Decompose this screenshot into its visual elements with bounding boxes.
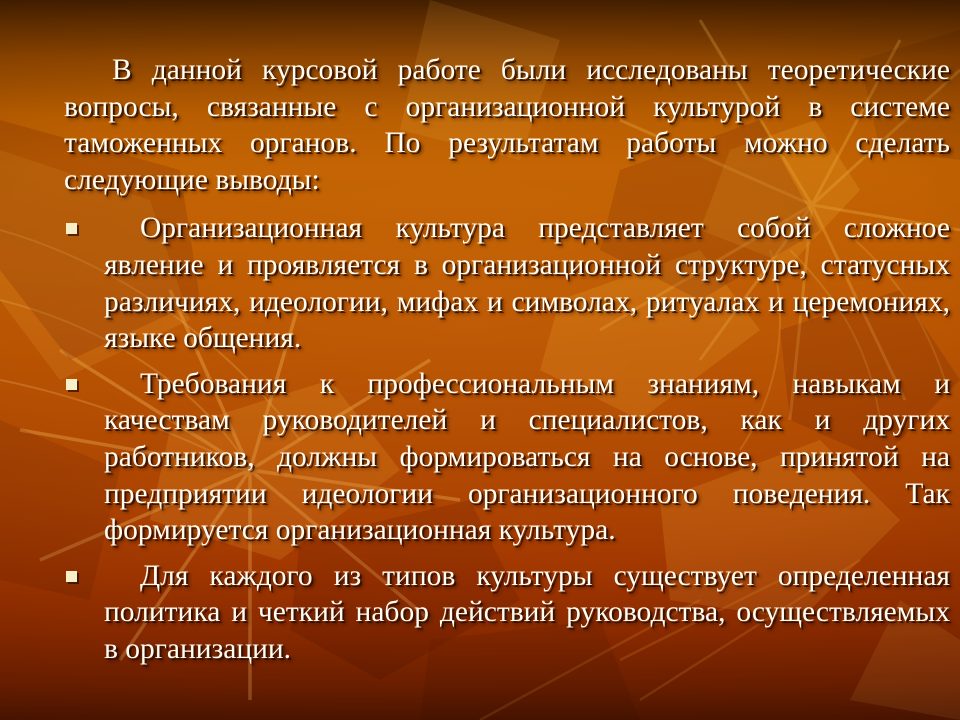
square-bullet-icon xyxy=(66,379,77,390)
paragraph-text: Требования к профессиональным знаниям, н… xyxy=(104,368,950,546)
square-bullet-icon xyxy=(66,571,77,582)
paragraph-text: Организационная культура представляет со… xyxy=(104,212,950,354)
slide-body-text: В данной курсовой работе были исследован… xyxy=(64,52,950,652)
bullet-paragraph-3: Для каждого из типов культуры существует… xyxy=(64,558,950,668)
bullet-paragraph-1: Организационная культура представляет со… xyxy=(64,210,950,356)
paragraph-text: Для каждого из типов культуры существует… xyxy=(104,560,950,665)
paragraph-intro: В данной курсовой работе были исследован… xyxy=(64,52,950,198)
bullet-paragraph-2: Требования к профессиональным знаниям, н… xyxy=(64,366,950,549)
presentation-slide: В данной курсовой работе были исследован… xyxy=(0,0,960,720)
paragraph-text: В данной курсовой работе были исследован… xyxy=(64,54,950,196)
square-bullet-icon xyxy=(66,223,77,234)
